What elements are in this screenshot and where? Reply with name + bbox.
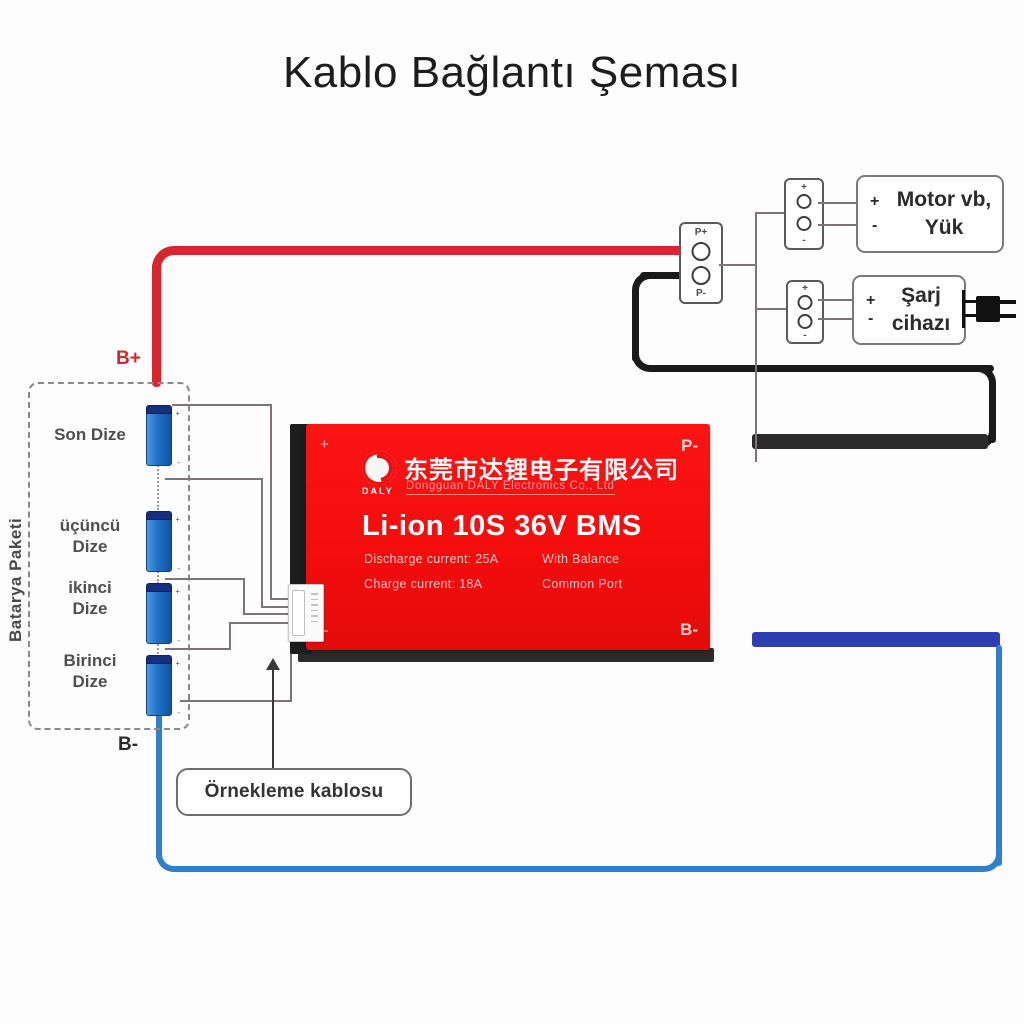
load-box-line2: Yük [925,214,964,242]
battery-cell-label-first-1: Birinci [40,650,140,671]
bms-plus-marker: + [320,436,329,453]
sampling-wire-3-h [165,578,245,580]
charger-connector-plus: + [802,283,808,294]
output-terminal-p-minus[interactable] [692,266,711,285]
terminal-label-b-minus: B- [118,734,138,756]
series-link-1 [157,462,159,510]
load-wire-minus [818,224,858,226]
charger-terminal-plus[interactable] [798,295,813,310]
callout-arrow-line [272,670,274,768]
cell-plus-marker: + [175,409,180,418]
charger-box-text: Şarj cihazı [884,277,958,343]
branch-line-vertical [755,212,757,462]
plug-pin-top [998,300,1016,304]
load-terminal-minus[interactable] [797,216,812,231]
bms-model-name: Li-ion 10S 36V BMS [362,510,642,543]
battery-cell-label-second-1: ikinci [40,577,140,598]
wire-black-horizontal-mid [650,365,994,372]
bms-spec-charge: Charge current: 18A [364,577,542,591]
sampling-cable-callout: Örnekleme kablosu [176,768,412,816]
jst-balance-connector[interactable] [288,584,324,642]
sampling-wire-4-h2 [229,622,294,624]
branch-line-to-load [755,212,785,214]
cell-plus-marker: + [175,515,180,524]
bms-spec-row: Charge current: 18A Common Port [364,577,674,591]
battery-pack-label: Batarya Paketi [6,452,26,642]
sampling-wire-4-h [165,648,231,650]
battery-cell-label-second-2: Dize [40,598,140,619]
load-box-minus: - [872,217,877,235]
battery-cell-third: + - [146,516,172,572]
jst-connector-pins [311,593,318,622]
load-terminal-plus[interactable] [797,194,812,209]
battery-cell-last: + - [146,410,172,466]
daly-logo-text: DALY [362,486,394,496]
battery-cell-label-first-2: Dize [40,671,140,692]
load-wire-plus [818,202,858,204]
cell-minus-marker: - [177,564,180,573]
cell-plus-marker: + [175,659,180,668]
charger-box-line1: Şarj [901,282,941,310]
sampling-wire-3-v [243,578,245,614]
daly-logo-icon [362,451,396,485]
plug-body [976,296,1000,322]
sampling-wire-1-h [172,404,272,406]
battery-cell-label-third-2: Dize [40,536,140,557]
battery-cell-label-last: Son Dize [40,424,140,445]
load-connector-plus: + [801,182,807,193]
load-connector-minus: - [802,235,805,246]
battery-cell-first: + - [146,660,172,716]
load-connector-block[interactable]: + - [784,178,824,250]
charger-box-plus: + [866,292,875,310]
load-box-text: Motor vb, Yük [892,177,996,251]
cell-minus-marker: - [177,636,180,645]
callout-arrow-head [266,658,280,670]
output-terminal-p-plus[interactable] [692,242,711,261]
diagram-canvas: Kablo Bağlantı Şeması Batarya Paketi + -… [0,0,1024,1024]
charger-box-minus: - [868,310,873,328]
bms-spec-row: Discharge current: 25A With Balance [364,552,674,566]
wire-red-horizontal [178,246,686,255]
charger-terminal-minus[interactable] [798,314,813,329]
sampling-wire-2-v [261,478,263,608]
sampling-wire-5-h [180,700,292,702]
charger-wire-plus [818,299,854,301]
cell-plus-marker: + [175,587,180,596]
output-connector-block[interactable]: P+ P- [679,222,723,304]
sampling-wire-2-h [165,478,263,480]
bms-spec-list: Discharge current: 25A With Balance Char… [364,552,674,602]
cell-minus-marker: - [177,708,180,717]
load-device-box: + - Motor vb, Yük [856,175,1004,253]
cell-minus-marker: - [177,458,180,467]
wire-black-lead-to-bms [752,434,988,449]
charger-connector-minus: - [803,330,806,341]
output-connector-label-p-minus: P- [696,288,706,299]
charger-box-line2: cihazı [892,310,950,338]
plug-pin-bottom [998,314,1016,318]
load-box-plus: + [870,193,879,211]
bms-terminal-p-minus: P- [681,436,698,456]
terminal-label-b-plus: B+ [116,348,141,370]
wire-blue-lead-from-bms [752,632,1000,647]
output-connector-label-p-plus: P+ [695,227,708,238]
jst-connector-slot [292,590,305,636]
battery-cell-second: + - [146,588,172,644]
sampling-wire-4-v [229,622,231,650]
wire-blue-vertical-right [996,645,1002,866]
bms-terminal-b-minus: B- [680,620,698,640]
wire-red-vertical [152,262,161,387]
plug-bar [962,290,965,328]
bms-spec-balance: With Balance [542,552,619,566]
mains-plug-icon [962,290,1020,328]
bms-brand-english: Dongguan DALY Electronics Co., Ltd [406,480,615,495]
bms-spec-port: Common Port [542,577,622,591]
wire-blue-horizontal-bottom [170,866,982,872]
charger-connector-block[interactable]: + - [786,280,824,344]
bms-board: + − P- B- 东莞市达锂电子有限公司 DALY Dongguan DALY… [306,424,710,650]
battery-cell-label-third-1: üçüncü [40,515,140,536]
sampling-wire-1-v [270,404,272,600]
page-title: Kablo Bağlantı Şeması [0,48,1024,98]
load-box-line1: Motor vb, [897,186,992,214]
charger-device-box: + - Şarj cihazı [852,275,966,345]
branch-line-from-connector [719,264,757,266]
bms-spec-discharge: Discharge current: 25A [364,552,542,566]
sampling-wire-3-h2 [243,613,294,615]
charger-wire-minus [818,318,854,320]
bms-board-shadow [298,648,714,662]
